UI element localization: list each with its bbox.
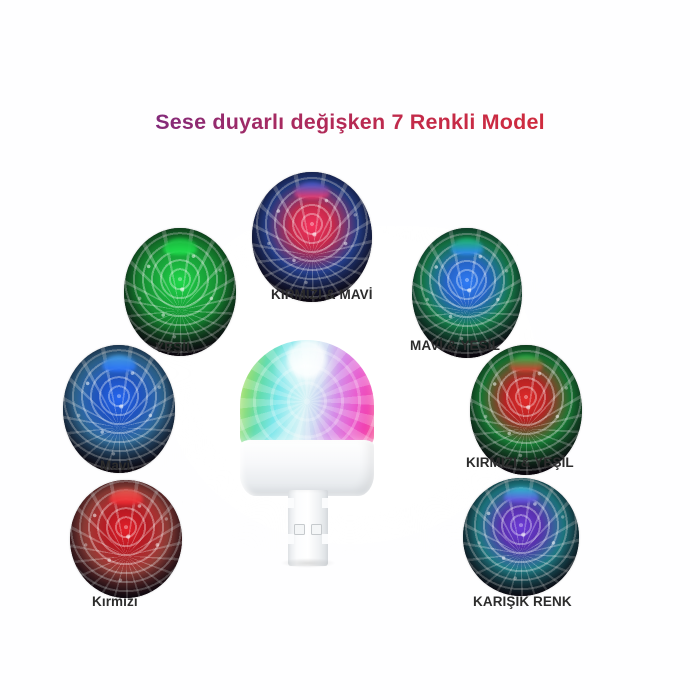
light-pattern-mavi: [63, 345, 175, 473]
usb-notch-right: [322, 498, 328, 508]
page-title: Sese duyarlı değişken 7 Renkli Model: [0, 110, 700, 135]
light-pattern-yesil: [124, 228, 236, 356]
usb-notch-left: [288, 498, 294, 508]
pattern-vignette: [124, 228, 236, 356]
mode-label-karisik-renk: KARIŞIK RENK: [473, 594, 572, 609]
pattern-vignette: [70, 480, 182, 598]
pattern-vignette: [63, 345, 175, 473]
product-shadow: [280, 558, 336, 568]
mode-label-kirmizi: Kırmızı: [92, 594, 138, 609]
light-pattern-kirmizi: [70, 480, 182, 598]
light-pattern-kirmizi-mavi: [252, 172, 372, 302]
usb-connector: [288, 490, 328, 566]
mode-label-kirmizi-mavi: KIRMIZI & MAVİ: [271, 287, 373, 302]
product-base: [240, 440, 374, 496]
light-pattern-karisik-renk: [463, 478, 579, 596]
usb-disco-light-product: [232, 340, 382, 570]
pattern-vignette: [252, 172, 372, 302]
product-image-canvas: Sese duyarlı değişken 7 Renkli Model YEŞ…: [0, 0, 700, 700]
mode-label-kirmizi-yesil: KIRMIZI & YEŞİL: [466, 455, 574, 470]
pattern-vignette: [463, 478, 579, 596]
product-dome: [240, 340, 374, 446]
dome-highlight: [275, 348, 337, 393]
mode-label-mavi: Mavi: [100, 458, 130, 473]
